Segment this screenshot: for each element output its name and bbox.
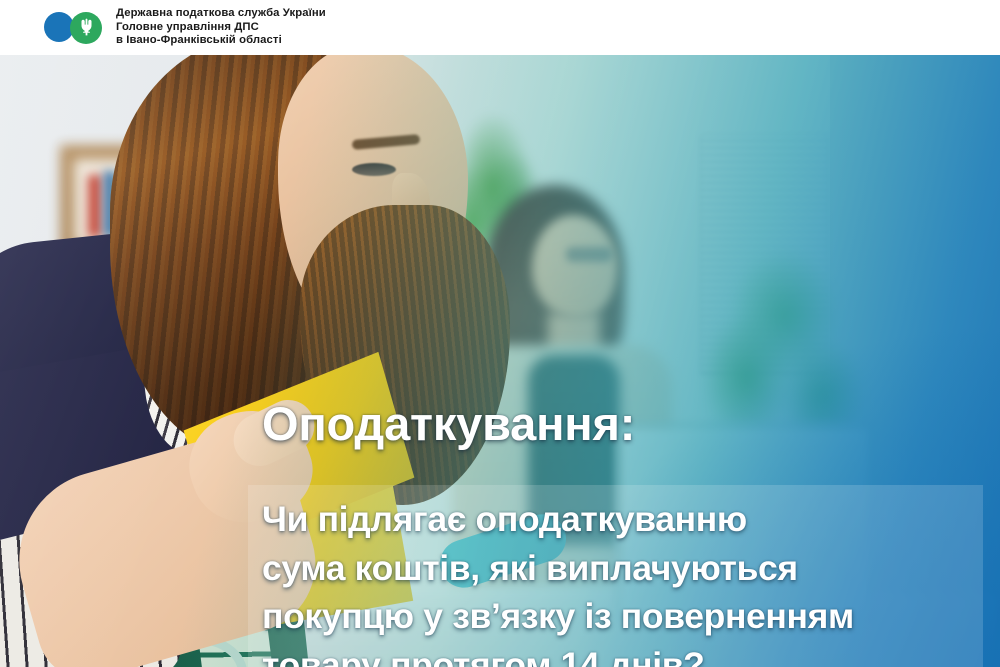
question-line-3: покупцю у зв’язку із поверненням (262, 592, 988, 641)
org-name-block: Державна податкова служба України Головн… (116, 7, 326, 48)
ukraine-trident-icon (79, 18, 94, 37)
logo-green-circle-icon (70, 12, 102, 44)
question-line-2: сума коштів, які виплачуються (262, 544, 988, 593)
site-header: Державна податкова служба України Головн… (0, 0, 1000, 55)
banner-headline: Оподаткування: (262, 395, 635, 453)
banner-question-text: Чи підлягає оподаткуванню сума коштів, я… (262, 495, 988, 667)
banner-page: Державна податкова служба України Головн… (0, 0, 1000, 667)
question-line-4: товару протягом 14 днів? (262, 641, 988, 667)
dps-logo (44, 12, 106, 44)
question-line-1: Чи підлягає оподаткуванню (262, 495, 988, 544)
org-line-1: Державна податкова служба України (116, 7, 326, 21)
banner-photo-stage: Оподаткування: Чи підлягає оподаткуванню… (0, 55, 1000, 667)
org-line-3: в Івано-Франківській області (116, 34, 326, 48)
org-line-2: Головне управління ДПС (116, 21, 326, 35)
